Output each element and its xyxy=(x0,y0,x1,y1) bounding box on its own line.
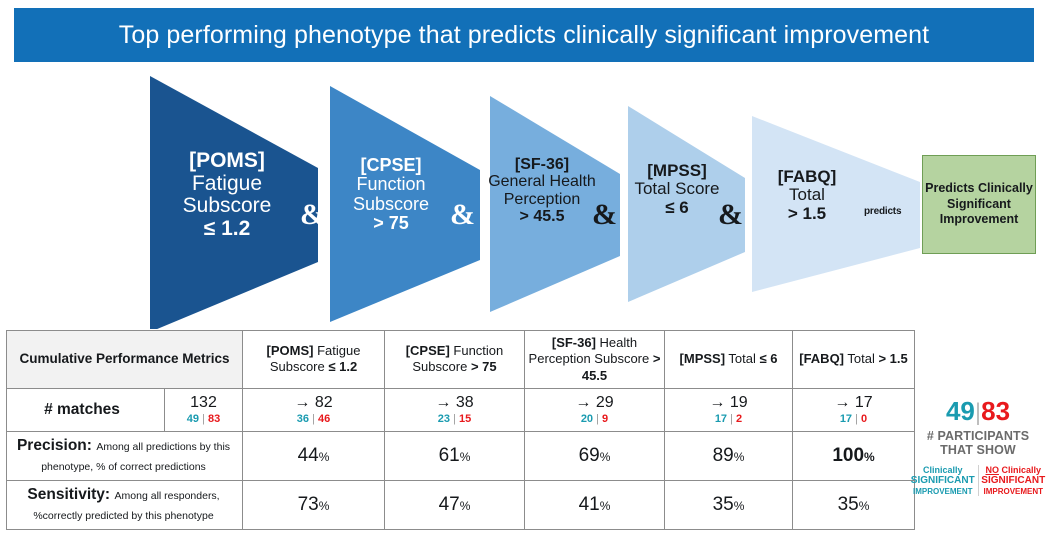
legend-counts: 49|83 xyxy=(908,398,1048,425)
and-symbol-4: & xyxy=(718,198,743,232)
legend-count-nonresponders: 83 xyxy=(981,396,1010,426)
title-banner: Top performing phenotype that predicts c… xyxy=(14,8,1034,62)
cell-matches-cpse: → 38 23 | 15 xyxy=(385,388,525,431)
row-label-sensitivity: Sensitivity: Among all responders, %corr… xyxy=(7,480,243,529)
cell-sensitivity-sf36: 41% xyxy=(525,480,665,529)
col-header-fabq: [FABQ] Total > 1.5 xyxy=(793,331,915,389)
legend-caption: # PARTICIPANTS THAT SHOW xyxy=(908,429,1048,458)
table-row: Sensitivity: Among all responders, %corr… xyxy=(7,480,915,529)
cell-sensitivity-poms: 73% xyxy=(243,480,385,529)
funnel-shape-fabq xyxy=(752,116,920,292)
participants-legend: 49|83 # PARTICIPANTS THAT SHOW Clinicall… xyxy=(908,398,1048,496)
cell-matches-sf36: → 29 20 | 9 xyxy=(525,388,665,431)
performance-table: Cumulative Performance Metrics [POMS] Fa… xyxy=(6,330,915,530)
col-header-sf36: [SF-36] Health Perception Subscore > 45.… xyxy=(525,331,665,389)
cell-precision-mpss: 89% xyxy=(665,431,793,480)
legend-col-significant: Clinically SIGNIFICANT IMPROVEMENT xyxy=(908,465,978,496)
and-symbol-1: & xyxy=(300,198,325,232)
row-label-precision: Precision: Among all predictions by this… xyxy=(7,431,243,480)
and-symbol-2: & xyxy=(450,198,475,232)
cell-precision-cpse: 61% xyxy=(385,431,525,480)
col-header-poms: [POMS] Fatigue Subscore ≤ 1.2 xyxy=(243,331,385,389)
col-header-cpse: [CPSE] Function Subscore > 75 xyxy=(385,331,525,389)
cell-sensitivity-mpss: 35% xyxy=(665,480,793,529)
outcome-box-text: Predicts Clinically Significant Improvem… xyxy=(923,181,1035,228)
legend-col-not-significant: NO Clinically SIGNIFICANT IMPROVEMENT xyxy=(978,465,1049,496)
legend-count-responders: 49 xyxy=(946,396,975,426)
cell-matches-poms: → 82 36 | 46 xyxy=(243,388,385,431)
legend-columns: Clinically SIGNIFICANT IMPROVEMENT NO Cl… xyxy=(908,465,1048,496)
page-title: Top performing phenotype that predicts c… xyxy=(119,21,929,50)
and-symbol-3: & xyxy=(592,198,617,232)
table-row: Precision: Among all predictions by this… xyxy=(7,431,915,480)
corner-header: Cumulative Performance Metrics xyxy=(7,331,243,389)
cell-precision-poms: 44% xyxy=(243,431,385,480)
cell-precision-fabq: 100% xyxy=(793,431,915,480)
cell-precision-sf36: 69% xyxy=(525,431,665,480)
cell-matches-baseline: 132 49 | 83 xyxy=(165,388,243,431)
slide-root: Top performing phenotype that predicts c… xyxy=(0,0,1052,555)
cell-sensitivity-fabq: 35% xyxy=(793,480,915,529)
funnel-diagram: [POMS] Fatigue Subscore ≤ 1.2 [CPSE] Fun… xyxy=(0,64,1052,329)
table-row: # matches 132 49 | 83 → 82 36 | 46 → 38 … xyxy=(7,388,915,431)
col-header-mpss: [MPSS] Total ≤ 6 xyxy=(665,331,793,389)
outcome-box: Predicts Clinically Significant Improvem… xyxy=(922,155,1036,254)
cell-matches-mpss: → 19 17 | 2 xyxy=(665,388,793,431)
funnel-shapes xyxy=(0,64,1052,329)
funnel-shape-poms xyxy=(150,76,318,329)
cell-split-baseline: 49 | 83 xyxy=(165,413,242,426)
predicts-label: predicts xyxy=(864,206,901,217)
table-header-row: Cumulative Performance Metrics [POMS] Fa… xyxy=(7,331,915,389)
cell-matches-fabq: → 17 17 | 0 xyxy=(793,388,915,431)
cell-sensitivity-cpse: 47% xyxy=(385,480,525,529)
row-label-matches: # matches xyxy=(7,388,165,431)
